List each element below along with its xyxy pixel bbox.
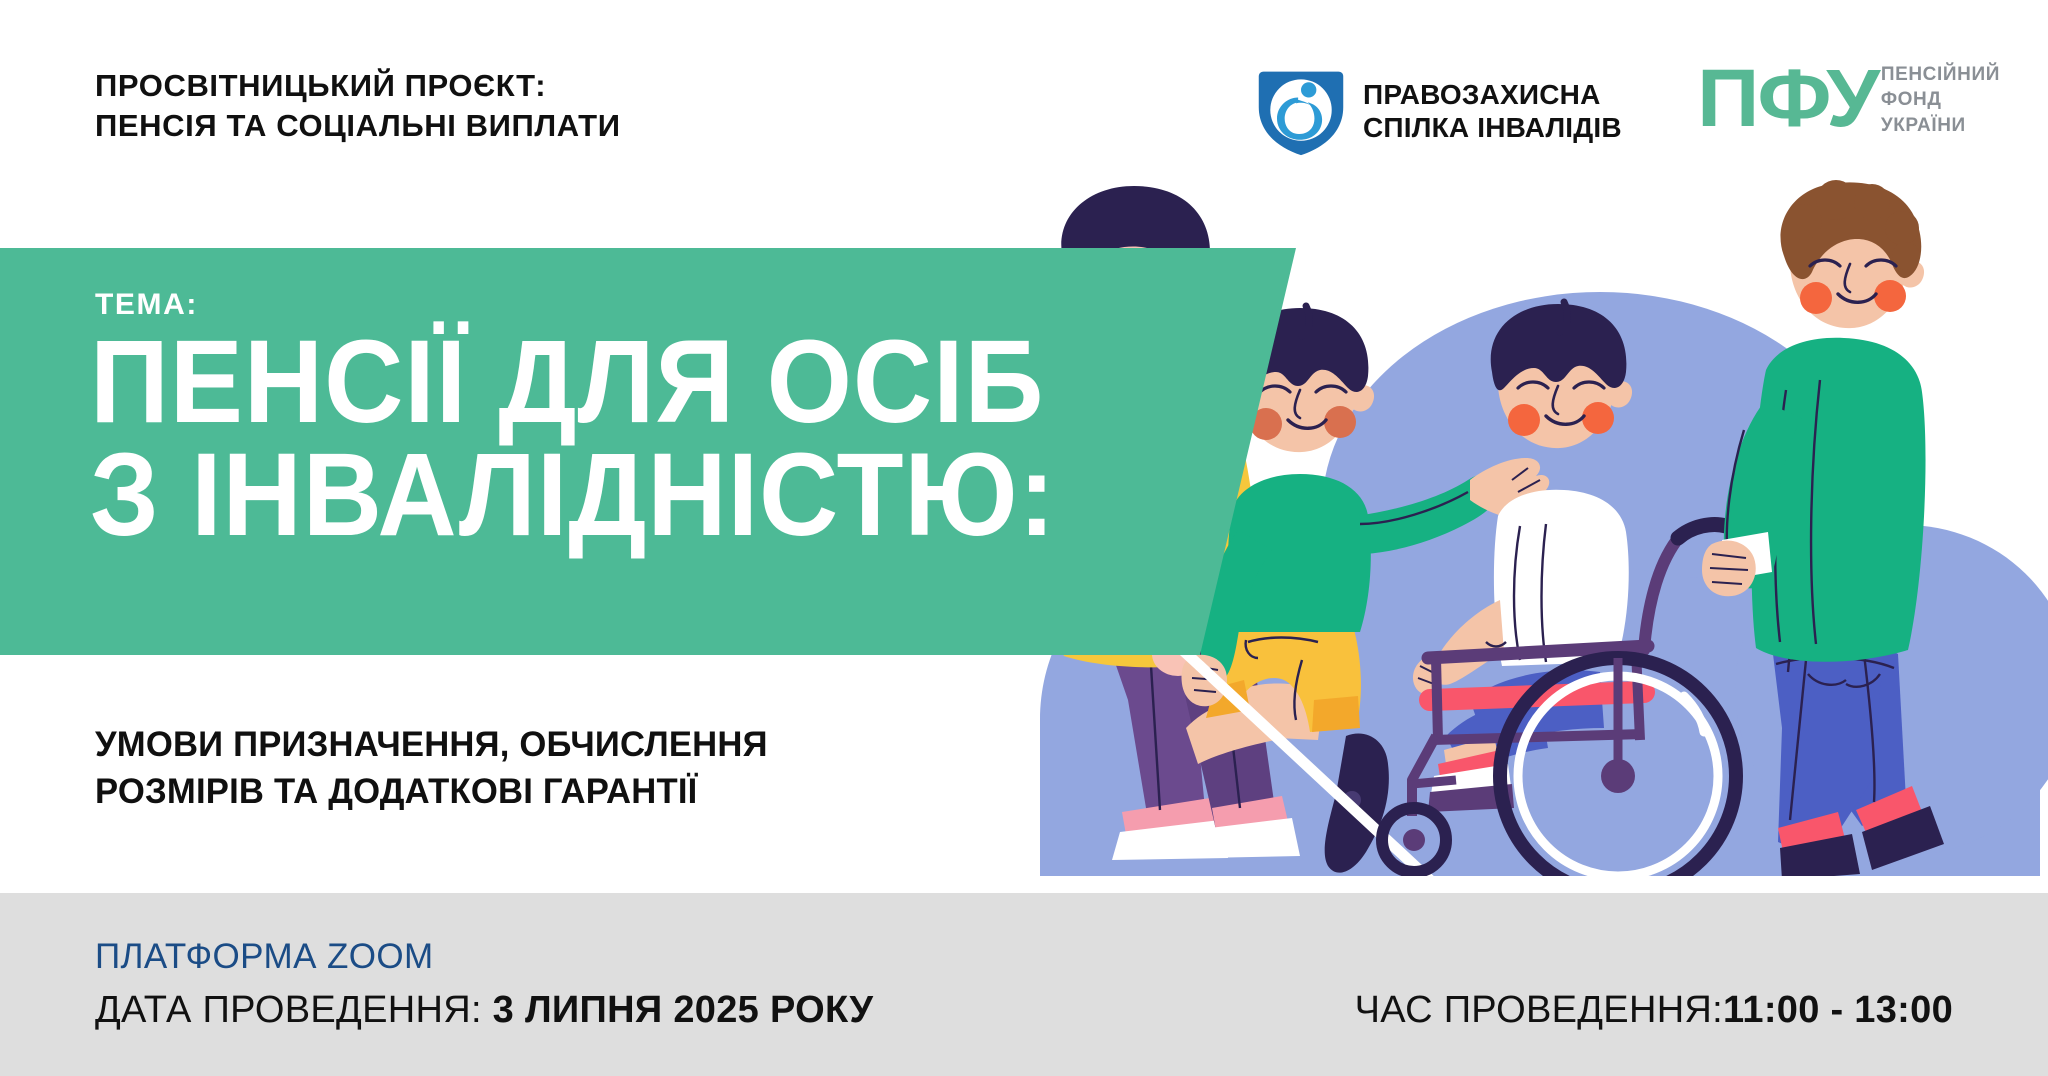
time-value: 11:00 - 13:00 — [1723, 989, 1953, 1031]
pfu-monogram: ПФУ — [1697, 66, 1878, 132]
webinar-poster: ПРОСВІТНИЦЬКИЙ ПРОЄКТ: ПЕНСІЯ ТА СОЦІАЛЬ… — [0, 0, 2048, 1076]
shield-icon — [1253, 63, 1349, 159]
platform-label: ПЛАТФОРМА ZOOM — [95, 937, 434, 977]
logo-pravozakhysna-spilka-invalidiv: ПРАВОЗАХИСНА СПІЛКА ІНВАЛІДІВ — [1253, 63, 1622, 159]
time-label: ЧАС ПРОВЕДЕННЯ: — [1355, 989, 1723, 1031]
page-title: ПРОСВІТНИЦЬКИЙ ПРОЄКТ: ПЕНСІЯ ТА СОЦІАЛЬ… — [95, 66, 621, 147]
logo-pfu-label: ПЕНСІЙНИЙ ФОНД УКРАЇНИ — [1881, 60, 2000, 138]
logo-union-label: ПРАВОЗАХИСНА СПІЛКА ІНВАЛІДІВ — [1363, 78, 1622, 144]
date-value: 3 ЛИПНЯ 2025 РОКУ — [493, 989, 874, 1031]
date-label: ДАТА ПРОВЕДЕННЯ: — [95, 989, 482, 1031]
footer-bar — [0, 893, 2048, 1076]
event-time: ЧАС ПРОВЕДЕННЯ:11:00 - 13:00 — [1355, 989, 1953, 1032]
logo-pensiynyi-fond-ukrainy: ПФУ ПЕНСІЙНИЙ ФОНД УКРАЇНИ — [1697, 60, 2000, 138]
main-topic-title: ПЕНСІЇ ДЛЯ ОСІБ З ІНВАЛІДНІСТЮ: — [90, 326, 1056, 553]
topic-subtitle: УМОВИ ПРИЗНАЧЕННЯ, ОБЧИСЛЕННЯ РОЗМІРІВ Т… — [95, 722, 768, 815]
event-date: ДАТА ПРОВЕДЕННЯ: 3 ЛИПНЯ 2025 РОКУ — [95, 989, 873, 1032]
